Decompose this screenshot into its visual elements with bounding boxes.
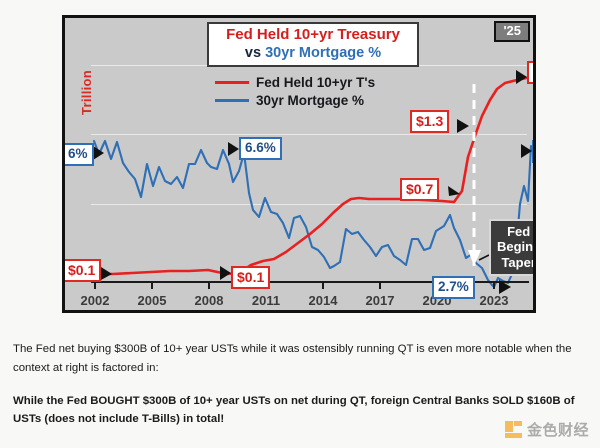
- body-paragraph-2: While the Fed BOUGHT $300B of 10+ year U…: [13, 392, 575, 430]
- x-tick: [379, 283, 381, 289]
- year-badge: '25: [494, 21, 530, 42]
- chart-title-line1: Fed Held 10+yr Treasury: [215, 27, 411, 44]
- chart-plot-area: 2002 2005 2008 2011 2014 2017 2020 2023 …: [65, 18, 533, 310]
- x-tick: [94, 283, 96, 289]
- chart-legend: Fed Held 10+yr T's 30yr Mortgage %: [215, 75, 375, 111]
- taper-line-2: Begins: [497, 239, 533, 254]
- callout-fed-0-1-left: $0.1: [65, 259, 101, 282]
- y-axis-left-title: Trillion: [79, 70, 94, 115]
- taper-line-3: Taper: [497, 255, 533, 270]
- watermark-text: 金色财经: [527, 419, 589, 440]
- screenshot-root: 2002 2005 2008 2011 2014 2017 2020 2023 …: [0, 0, 600, 448]
- x-tick-label: 2008: [195, 293, 224, 308]
- x-tick-label: 2014: [309, 293, 338, 308]
- chart-container: 2002 2005 2008 2011 2014 2017 2020 2023 …: [62, 15, 536, 313]
- body-text-block: The Fed net buying $300B of 10+ year UST…: [13, 340, 575, 429]
- legend-swatch-red-icon: [215, 81, 249, 84]
- callout-fed-begins-taper: Fed Begins Taper: [489, 219, 533, 276]
- callout-fed-1-3: $1.3: [410, 110, 449, 133]
- watermark: 金色财经: [505, 419, 589, 440]
- x-tick-label: 2005: [138, 293, 167, 308]
- legend-label: 30yr Mortgage %: [256, 93, 364, 108]
- legend-label: Fed Held 10+yr T's: [256, 75, 375, 90]
- callout-fed-0-1-mid: $0.1: [231, 266, 270, 289]
- x-tick-label: 2017: [366, 293, 395, 308]
- jinse-logo-icon: [505, 421, 522, 438]
- callout-fed-1-6: $1.6: [527, 61, 533, 84]
- legend-item-fed-held: Fed Held 10+yr T's: [215, 75, 375, 90]
- taper-line-1: Fed: [497, 224, 533, 239]
- x-tick-label: 2002: [81, 293, 110, 308]
- legend-item-mortgage: 30yr Mortgage %: [215, 93, 375, 108]
- chart-title-blue: 30yr Mortgage %: [265, 45, 381, 61]
- callout-mortgage-2-7: 2.7%: [432, 276, 475, 299]
- callout-mortgage-6: 6%: [65, 143, 94, 166]
- body-paragraph-1: The Fed net buying $300B of 10+ year UST…: [13, 340, 575, 378]
- chart-title-vs: vs: [245, 45, 265, 61]
- x-tick: [322, 283, 324, 289]
- callout-mortgage-6-8: 6.8%: [532, 140, 533, 163]
- x-tick-label: 2023: [480, 293, 509, 308]
- x-tick: [493, 283, 495, 289]
- callout-fed-0-7: $0.7: [400, 178, 439, 201]
- legend-swatch-blue-icon: [215, 99, 249, 102]
- chart-title-line2: vs 30yr Mortgage %: [215, 45, 411, 62]
- x-tick: [208, 283, 210, 289]
- chart-title-box: Fed Held 10+yr Treasury vs 30yr Mortgage…: [207, 22, 419, 67]
- x-tick: [151, 283, 153, 289]
- x-tick-label: 2011: [252, 293, 280, 308]
- callout-mortgage-6-6: 6.6%: [239, 137, 282, 160]
